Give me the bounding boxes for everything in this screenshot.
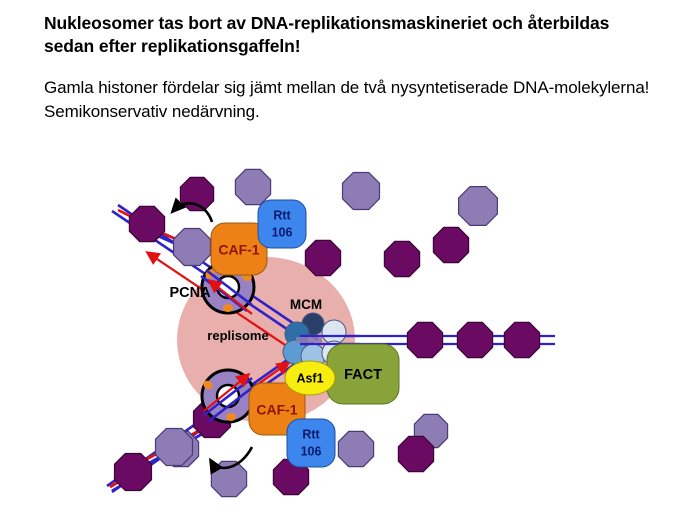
rtt106-top-label-line1: Rtt bbox=[273, 208, 291, 222]
caf1-top-label: CAF-1 bbox=[218, 242, 259, 258]
free-nucleosome-9 bbox=[338, 431, 373, 466]
slide-canvas: Nukleosomer tas bort av DNA-replikations… bbox=[0, 0, 694, 520]
rtt106-top-label-line2: 106 bbox=[272, 225, 293, 239]
free-nucleosome-2 bbox=[235, 169, 270, 204]
pcna-label: PCNA bbox=[169, 285, 211, 301]
strand-nucleosome-ul-2 bbox=[174, 229, 211, 266]
page-title: Nukleosomer tas bort av DNA-replikations… bbox=[44, 12, 664, 59]
strand-nucleosome-r-2 bbox=[457, 322, 492, 357]
free-nucleosome-4 bbox=[305, 240, 340, 275]
strand-nucleosome-ll-1 bbox=[115, 454, 152, 491]
caf1-bottom-label: CAF-1 bbox=[256, 402, 297, 418]
free-nucleosome-7 bbox=[459, 187, 498, 226]
subtitle-text: Gamla histoner fördelar sig jämt mellan … bbox=[44, 76, 664, 124]
asf1-protein[interactable]: Asf1 bbox=[285, 361, 335, 395]
fact-protein[interactable]: FACT bbox=[327, 344, 399, 404]
strand-nucleosome-ll-2 bbox=[156, 429, 193, 466]
strand-nucleosome-ul-1 bbox=[129, 206, 164, 241]
free-nucleosome-10 bbox=[398, 436, 433, 471]
mcm-subunit-pale-top bbox=[322, 320, 346, 344]
replication-nucleosome-diagram: CAF-1 Rtt 106 CAF-1 Rtt 106 bbox=[0, 150, 694, 520]
free-nucleosome-3 bbox=[343, 173, 380, 210]
strand-nucleosome-r-1 bbox=[407, 322, 442, 357]
rtt106-bottom[interactable]: Rtt 106 bbox=[287, 419, 335, 467]
free-nucleosome-5 bbox=[384, 241, 419, 276]
strand-nucleosome-r-3 bbox=[504, 322, 539, 357]
replisome-label: replisome bbox=[207, 328, 268, 343]
rtt106-bottom-label-line2: 106 bbox=[301, 444, 322, 458]
rtt106-top[interactable]: Rtt 106 bbox=[258, 200, 306, 248]
mcm-label: MCM bbox=[290, 297, 322, 312]
free-nucleosome-6 bbox=[433, 227, 468, 262]
fact-label: FACT bbox=[344, 367, 382, 383]
rtt106-bottom-label-line1: Rtt bbox=[302, 427, 320, 441]
asf1-label: Asf1 bbox=[296, 371, 323, 385]
right-strand-nucleosomes bbox=[407, 322, 539, 357]
